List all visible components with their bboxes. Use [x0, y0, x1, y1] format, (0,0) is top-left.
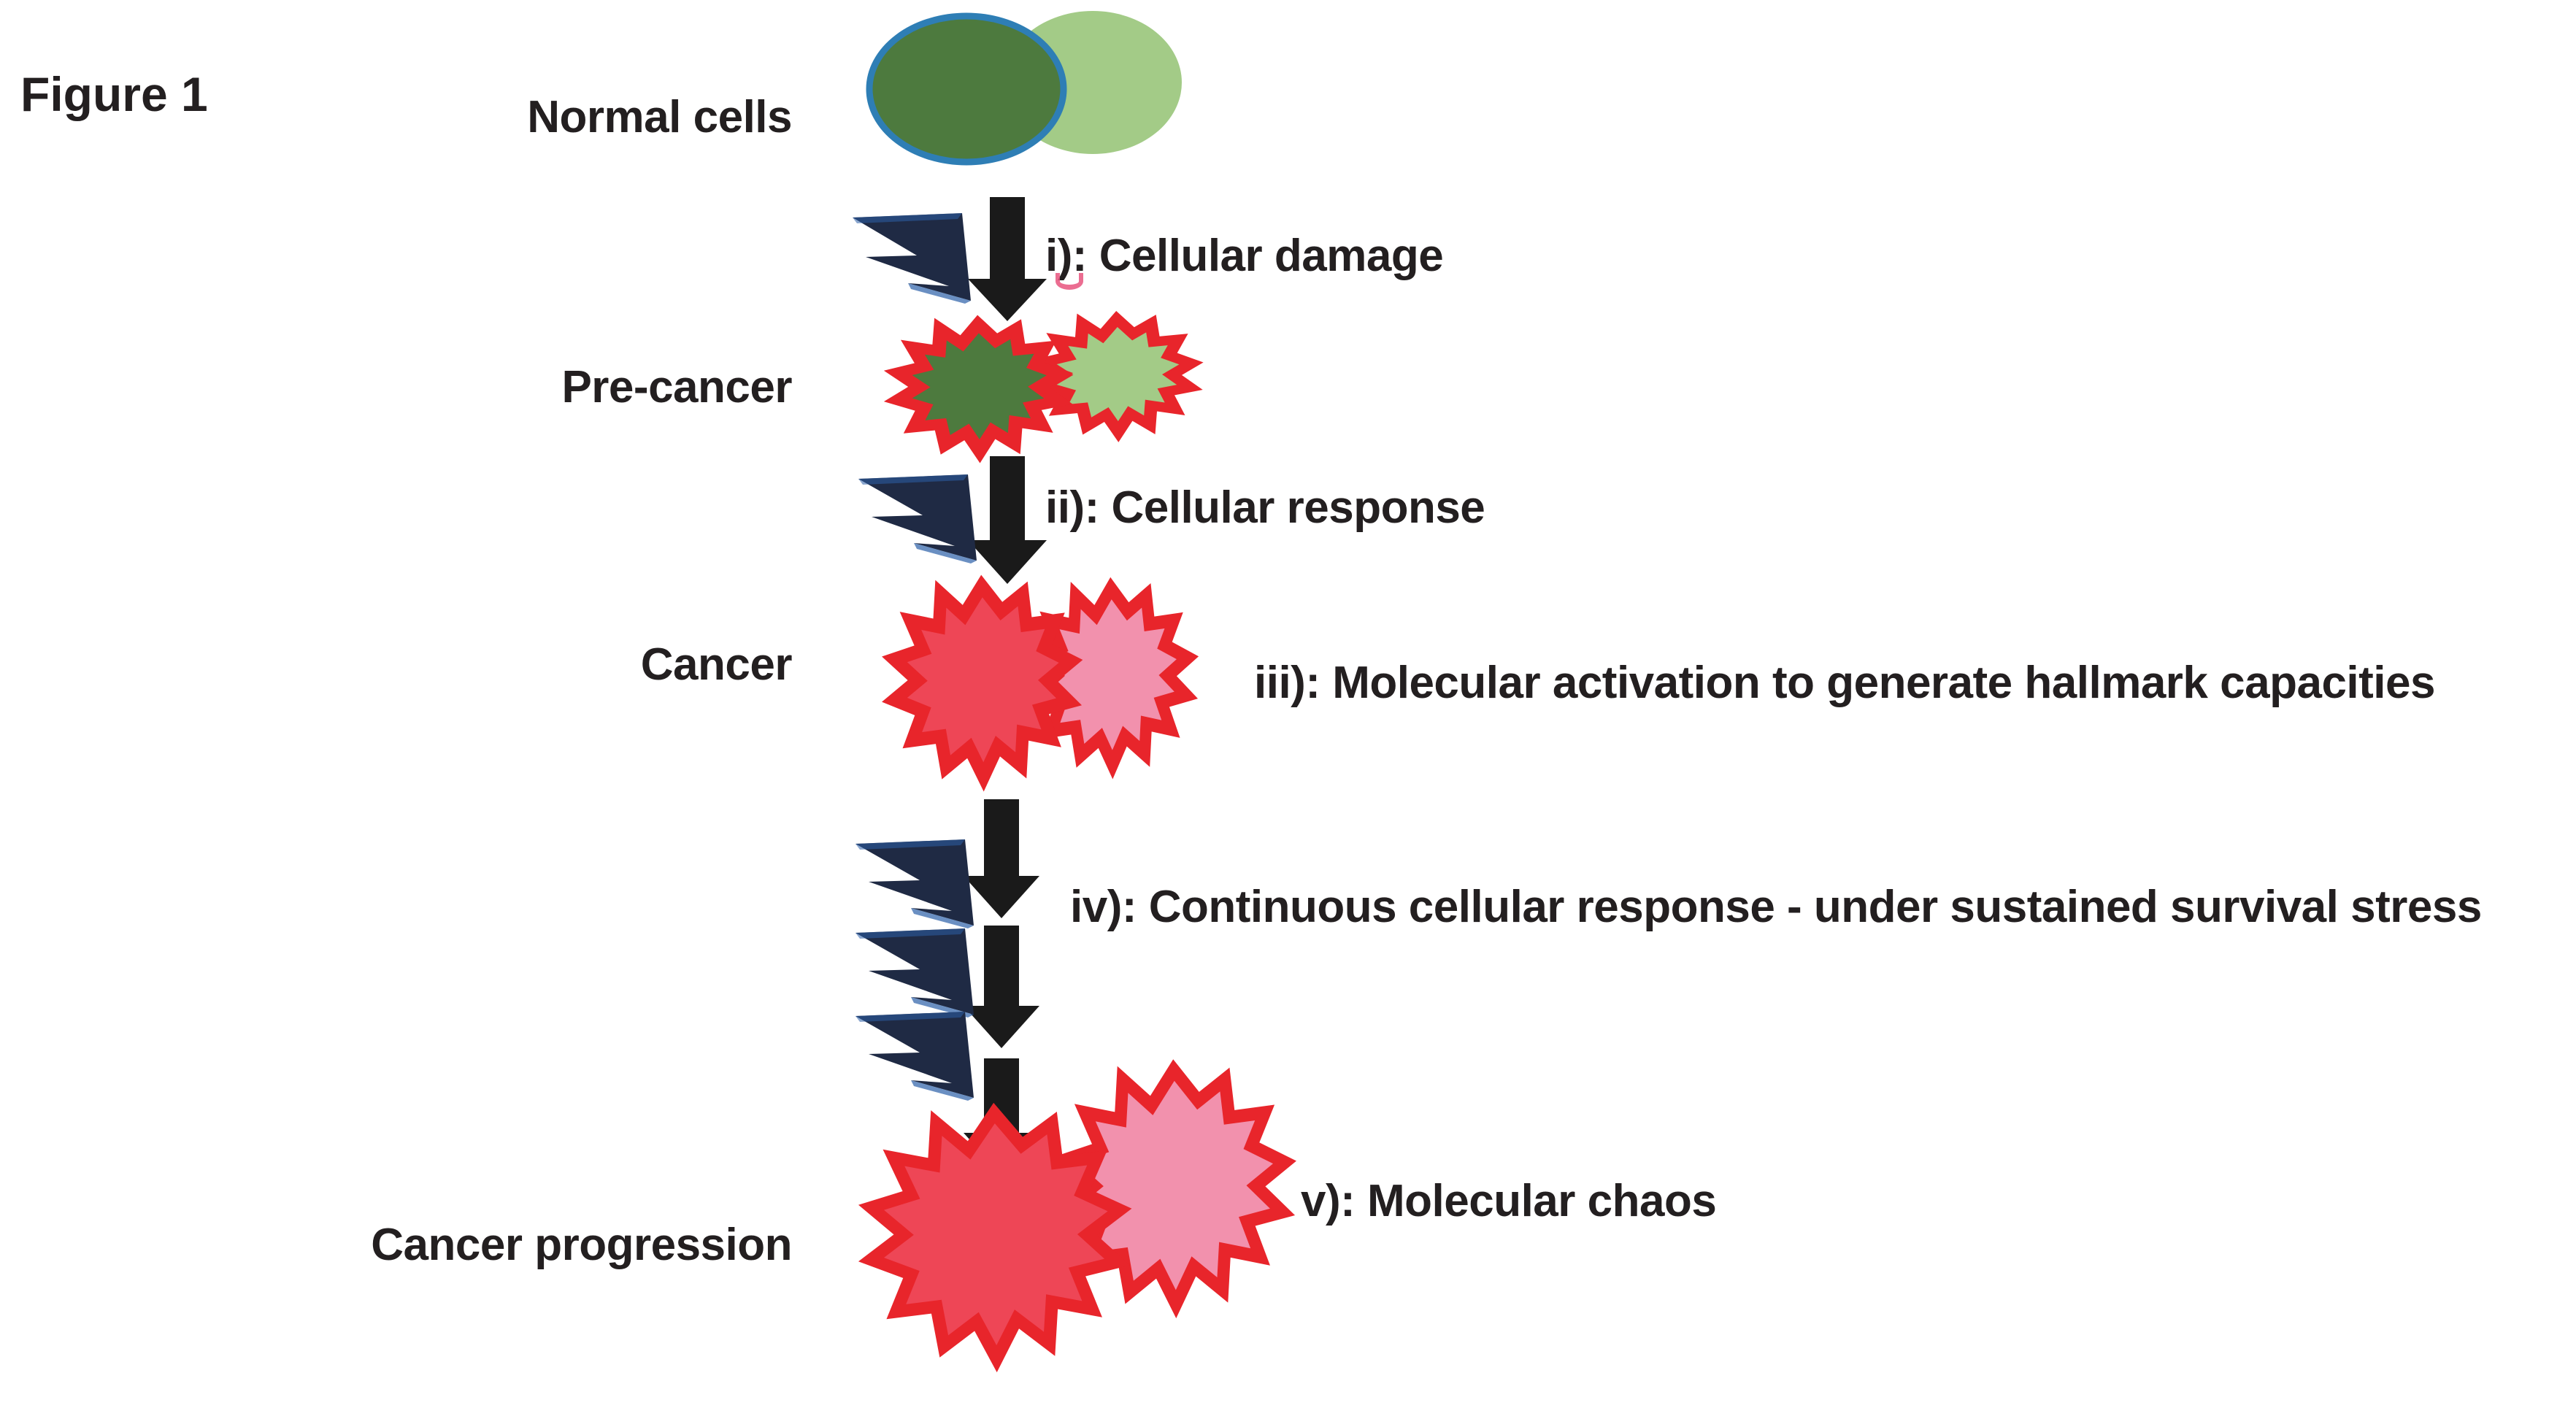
stage-label-cancer: Cancer: [641, 642, 792, 688]
lightning-bolt-icon-5: [856, 1012, 974, 1101]
arrow-precancer-to-cancer: [968, 456, 1047, 584]
dark-green-cell-ellipse: [869, 16, 1064, 162]
light-green-cell-ellipse: [1004, 11, 1182, 154]
step-label-iii: iii): Molecular activation to generate h…: [1254, 661, 2435, 706]
lightning-bolt-icon-2: [858, 474, 977, 563]
pre-cancer-graphic: [898, 319, 1191, 451]
stage-label-pre-cancer: Pre-cancer: [561, 365, 792, 410]
arrow-normal-to-precancer: [968, 197, 1047, 321]
figure-title: Figure 1: [20, 70, 208, 118]
arrow-cancer-progression-c: [964, 1058, 1039, 1175]
stage-label-normal-cells: Normal cells: [527, 95, 792, 140]
step-label-v: v): Molecular chaos: [1301, 1179, 1716, 1224]
step-label-ii: ii): Cellular response: [1045, 485, 1485, 531]
pink-artifact-mark: [1056, 273, 1083, 290]
figure-canvas: Figure 1 Normal cells Pre-cancer Cancer …: [0, 0, 2576, 1408]
stage-label-cancer-progression: Cancer progression: [371, 1223, 792, 1268]
step-label-iv: iv): Continuous cellular response - unde…: [1070, 885, 2482, 930]
step-label-i: i): Cellular damage: [1045, 234, 1443, 279]
arrow-cancer-progression-b: [964, 926, 1039, 1048]
arrow-cancer-progression-a: [964, 799, 1039, 918]
cancer-progression-graphic: [871, 1070, 1285, 1359]
lightning-bolt-icon-3: [856, 839, 974, 928]
normal-cells-graphic: [869, 11, 1182, 162]
cancer-graphic: [894, 586, 1188, 777]
lightning-bolt-icon-1: [853, 213, 971, 304]
lightning-bolt-icon-4: [856, 928, 974, 1017]
